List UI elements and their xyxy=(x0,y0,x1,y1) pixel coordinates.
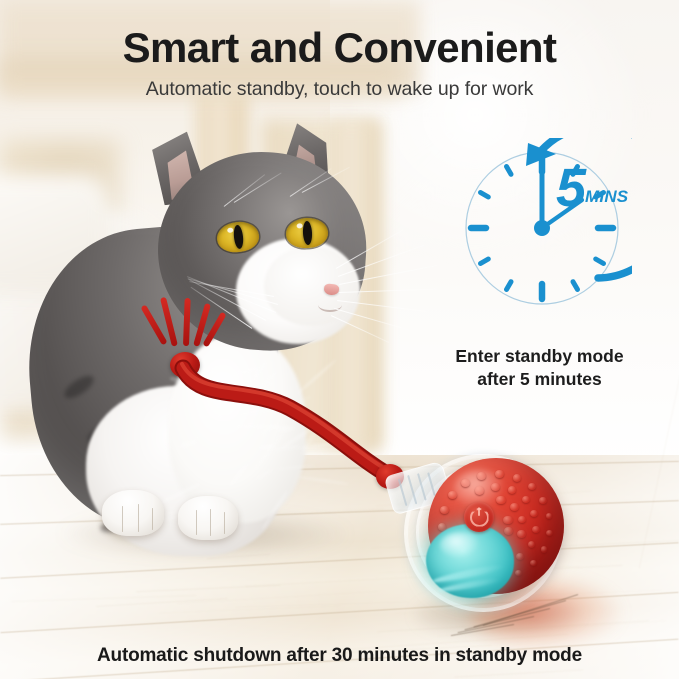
clock-icon xyxy=(452,138,632,318)
power-button[interactable] xyxy=(464,502,494,532)
ball-led-highlight xyxy=(440,532,480,558)
clock-caption-line-1: Enter standby mode xyxy=(400,345,679,368)
power-icon xyxy=(470,508,489,527)
cat-pupil-left xyxy=(233,225,244,250)
clock-value: 5 MINS xyxy=(556,166,628,210)
page-subtitle: Automatic standby, touch to wake up for … xyxy=(0,78,679,101)
clock-caption: Enter standby mode after 5 minutes xyxy=(400,345,679,392)
clock-caption-line-2: after 5 minutes xyxy=(400,368,679,391)
page-title: Smart and Convenient xyxy=(0,26,679,70)
clock-value-unit: MINS xyxy=(585,188,628,210)
product-feature-image: 5 MINS Smart and Convenient Automatic st… xyxy=(0,0,679,679)
cat-eye-shine-left xyxy=(227,227,233,233)
bottom-caption: Automatic shutdown after 30 minutes in s… xyxy=(0,645,679,667)
product-ball xyxy=(382,452,572,627)
cat-eye-shine-right xyxy=(296,223,302,228)
cat-pupil-right xyxy=(302,221,312,245)
clock-value-number: 5 xyxy=(556,166,584,210)
